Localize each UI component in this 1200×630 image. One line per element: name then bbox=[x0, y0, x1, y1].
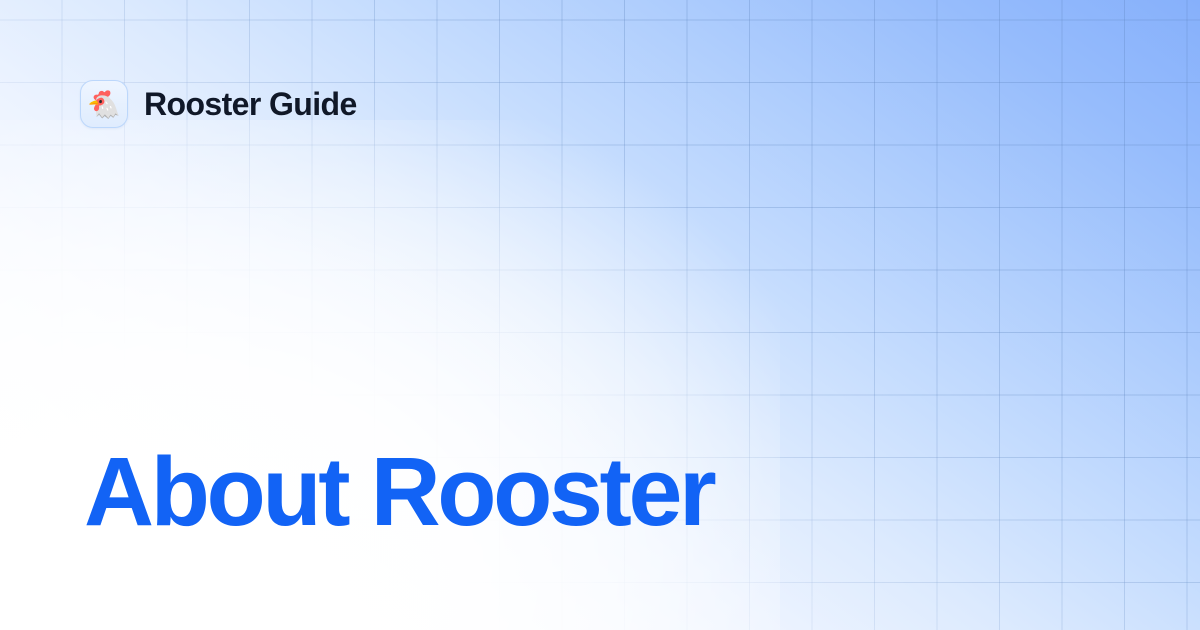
page-title: About Rooster bbox=[84, 443, 713, 540]
brand-name: Rooster Guide bbox=[144, 86, 357, 123]
og-card: 🐔 Rooster Guide About Rooster bbox=[0, 0, 1200, 630]
card-content: 🐔 Rooster Guide About Rooster bbox=[0, 0, 1200, 630]
brand-logo-badge: 🐔 bbox=[80, 80, 128, 128]
rooster-icon: 🐔 bbox=[87, 91, 121, 118]
brand-lockup: 🐔 Rooster Guide bbox=[80, 80, 357, 128]
